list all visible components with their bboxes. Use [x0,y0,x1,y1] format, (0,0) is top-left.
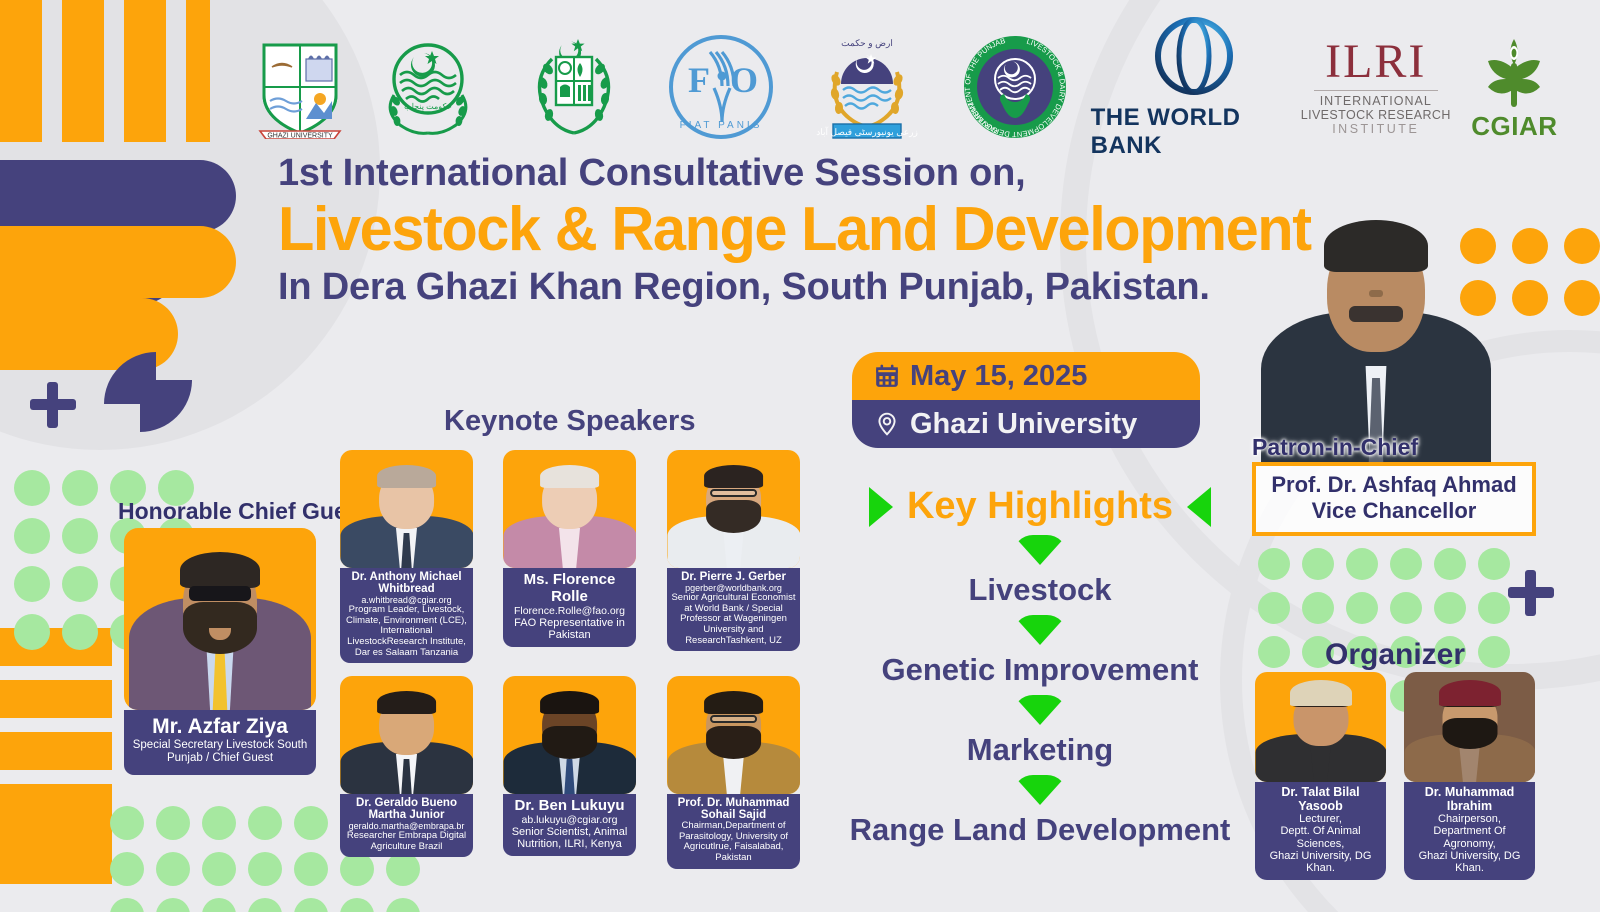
svg-text:زرعی یونیورسٹی فیصل آباد: زرعی یونیورسٹی فیصل آباد [816,126,918,138]
speaker-photo [503,676,636,794]
cgiar-logo: CGIAR [1454,33,1575,142]
organizer-caption: Dr. Muhammad IbrahimChairperson,Departme… [1404,782,1535,880]
speaker-affiliation: Senior Scientist, Animal Nutrition, ILRI… [506,826,633,851]
speaker-caption: Dr. Anthony Michael Whitbreada.whitbread… [340,568,473,663]
speaker-portrait-illustration [667,450,800,568]
location-pin-icon [874,411,900,437]
government-of-pakistan-logo [501,33,647,141]
decorative-dot [294,852,328,886]
decorative-plus-left [30,382,76,428]
decorative-dot [62,470,98,506]
decorative-dot [1564,228,1600,264]
decorative-dot [1258,548,1290,580]
decorative-dot [1434,548,1466,580]
decorative-dot [294,898,328,912]
decorative-dot [110,806,144,840]
decorative-dot [1512,228,1548,264]
svg-text:F: F [688,60,710,100]
decorative-dot [202,852,236,886]
decorative-dot [202,806,236,840]
chevron-down-icon [1013,775,1067,805]
decorative-plus-right [1508,570,1554,616]
patron-in-chief-heading: Patron-in-Chief [1252,434,1418,461]
speaker-portrait-illustration [340,450,473,568]
organizer-name: Dr. Muhammad Ibrahim [1407,785,1532,813]
speaker-photo [667,450,800,568]
decorative-dot [1302,592,1334,624]
speaker-photo [340,450,473,568]
decorative-dot [156,852,190,886]
decorative-dot [1478,636,1510,668]
key-highlight-item: Range Land Development [835,812,1245,848]
speaker-caption: Dr. Pierre J. Gerberpgerber@worldbank.or… [667,568,800,651]
speaker-portrait-illustration [503,450,636,568]
decorative-dot [62,614,98,650]
speaker-affiliation: Chairman,Department of Parasitology, Uni… [670,821,797,864]
keynote-speakers-heading: Keynote Speakers [444,405,695,438]
decorative-dot [1478,592,1510,624]
ilri-sub-2: LIVESTOCK RESEARCH [1301,108,1451,122]
decorative-vertical-bars [0,0,210,142]
speaker-card: Dr. Geraldo Bueno Martha Juniorgeraldo.m… [340,676,473,857]
decorative-dot [14,518,50,554]
speaker-portrait-illustration [503,676,636,794]
speaker-email[interactable]: ab.lukuyu@cgiar.org [506,814,633,826]
organizer-photo [1255,672,1386,782]
patron-portrait-illustration [1258,190,1494,462]
decorative-dot [1302,548,1334,580]
decorative-dot [156,898,190,912]
decorative-dot [110,852,144,886]
title-line-2: Livestock & Range Land Development [278,197,1228,262]
ghazi-university-logo: GHAZI UNIVERSITY [245,35,354,139]
decorative-dot [1258,636,1290,668]
organizer-heading: Organizer [1325,638,1465,672]
decorative-dot [1434,592,1466,624]
key-highlights-title: Key Highlights [907,485,1173,528]
decorative-quarter-circle-2 [140,380,192,432]
speaker-name: Dr. Pierre J. Gerber [670,571,797,583]
event-date-text: May 15, 2025 [910,360,1087,393]
speaker-caption: Dr. Ben Lukuyuab.lukuyu@cgiar.orgSenior … [503,794,636,856]
arrow-right-icon [869,487,893,527]
event-poster: GHAZI UNIVERSITY حکومت پنجاب [0,0,1600,912]
chief-guest-title: Special Secretary Livestock South Punjab… [128,739,312,765]
svg-text:حکومت پنجاب: حکومت پنجاب [404,102,452,111]
title-line-3: In Dera Ghazi Khan Region, South Punjab,… [278,266,1268,309]
decorative-dot [14,614,50,650]
decorative-dot [1390,592,1422,624]
glasses-icon [710,715,758,723]
event-date-badge: May 15, 2025 [852,352,1200,400]
ilri-wordmark: ILRI [1325,38,1426,86]
decorative-dot [14,470,50,506]
livestock-dairy-development-department-punjab-logo: LIVESTOCK & DAIRY DEVELOPMENT DEPARTMENT… [940,34,1090,140]
university-of-agriculture-faisalabad-logo: ارض و حکمت [794,32,940,142]
organizer-detail: Deptt. Of Animal Sciences, [1258,825,1383,850]
speaker-card: Dr. Pierre J. Gerberpgerber@worldbank.or… [667,450,800,651]
decorative-dot [248,852,282,886]
decorative-dot [1390,548,1422,580]
ilri-logo: ILRI INTERNATIONAL LIVESTOCK RESEARCH IN… [1298,38,1454,137]
organizer-detail: Ghazi University, DG Khan. [1407,850,1532,875]
organizer-detail: Lecturer, [1258,813,1383,825]
decorative-dot [1346,548,1378,580]
chevron-down-icon [1013,535,1067,565]
event-venue-text: Ghazi University [910,408,1137,441]
key-highlights-title-row: Key Highlights [835,485,1245,528]
speaker-affiliation: Senior Agricultural Economist at World B… [670,593,797,646]
organizer-detail: Department Of Agronomy, [1407,825,1532,850]
calendar-icon [874,363,900,389]
ilri-sub-1: INTERNATIONAL [1320,94,1432,108]
title-line-1: 1st International Consultative Session o… [278,152,1268,195]
speaker-caption: Prof. Dr. Muhammad Sohail SajidChairman,… [667,794,800,869]
arrow-left-icon [1187,487,1211,527]
chief-guest-photo [124,528,316,710]
decorative-dot [14,566,50,602]
svg-text:ارض و حکمت: ارض و حکمت [841,38,893,49]
organizer-name: Dr. Talat Bilal Yasoob [1258,785,1383,813]
key-highlight-item: Livestock [835,572,1245,608]
chief-guest-name: Mr. Azfar Ziya [128,715,312,739]
organizer-caption: Dr. Talat Bilal YasoobLecturer,Deptt. Of… [1255,782,1386,880]
organizer-card: Dr. Muhammad IbrahimChairperson,Departme… [1404,672,1535,880]
headwear-icon [1439,680,1501,706]
patron-in-chief-card: Prof. Dr. Ashfaq Ahmad Vice Chancellor [1252,462,1536,536]
speaker-affiliation: Researcher Embrapa Digital Agriculture B… [343,831,470,852]
speaker-card: Ms. Florence RolleFlorence.Rolle@fao.org… [503,450,636,647]
decorative-dot [62,518,98,554]
event-venue-badge: Ghazi University [852,400,1200,448]
speaker-photo [503,450,636,568]
chief-guest-heading: Honorable Chief Guest [118,498,367,525]
speaker-portrait-illustration [1404,672,1535,782]
decorative-dot [1346,592,1378,624]
decorative-dot [248,898,282,912]
speaker-photo [340,676,473,794]
speaker-caption: Dr. Geraldo Bueno Martha Juniorgeraldo.m… [340,794,473,857]
speaker-portrait-illustration [340,676,473,794]
organizer-detail: Chairperson, [1407,813,1532,825]
decorative-pill-shapes [0,160,236,370]
decorative-dot [294,806,328,840]
cgiar-label: CGIAR [1471,111,1557,142]
key-highlights-section: Key Highlights LivestockGenetic Improvem… [835,485,1245,848]
speaker-email[interactable]: Florence.Rolle@fao.org [506,605,633,617]
key-highlight-item: Marketing [835,732,1245,768]
decorative-dot [156,806,190,840]
speaker-name: Dr. Geraldo Bueno Martha Junior [343,797,470,821]
event-meta-badges: May 15, 2025 Ghazi University [852,352,1200,448]
speaker-affiliation: FAO Representative in Pakistan [506,617,633,642]
speaker-affiliation: Program Leader, Livestock, Climate, Envi… [343,605,470,658]
decorative-dot [202,898,236,912]
speaker-portrait-illustration [1255,672,1386,782]
decorative-dot [248,806,282,840]
organizer-photo [1404,672,1535,782]
patron-role: Vice Chancellor [1260,498,1528,524]
speaker-card: Dr. Ben Lukuyuab.lukuyu@cgiar.orgSenior … [503,676,636,856]
svg-text:GHAZI UNIVERSITY: GHAZI UNIVERSITY [267,133,333,140]
speaker-name: Dr. Anthony Michael Whitbread [343,571,470,595]
ilri-sub-3: INSTITUTE [1332,122,1419,136]
organizer-detail: Ghazi University, DG Khan. [1258,850,1383,875]
decorative-dot [1512,280,1548,316]
key-highlights-list: LivestockGenetic ImprovementMarketingRan… [835,535,1245,848]
speaker-name: Dr. Ben Lukuyu [506,797,633,814]
decorative-dot [1478,548,1510,580]
decorative-horizontal-bars [0,628,112,884]
fao-logo: F O FIAT PANIS [647,32,793,142]
chief-guest-card: Mr. Azfar Ziya Special Secretary Livesto… [124,528,316,775]
speaker-card: Dr. Anthony Michael Whitbreada.whitbread… [340,450,473,663]
patron-photo [1258,190,1494,462]
glasses-icon [710,489,758,497]
speaker-name: Prof. Dr. Muhammad Sohail Sajid [670,797,797,821]
world-bank-logo: THE WORLD BANK [1091,14,1298,160]
chevron-down-icon [1013,615,1067,645]
organizer-card: Dr. Talat Bilal YasoobLecturer,Deptt. Of… [1255,672,1386,880]
speaker-caption: Ms. Florence RolleFlorence.Rolle@fao.org… [503,568,636,647]
decorative-dot [62,566,98,602]
decorative-dot [110,898,144,912]
chief-guest-caption: Mr. Azfar Ziya Special Secretary Livesto… [124,710,316,775]
decorative-dot [386,898,420,912]
speaker-portrait-illustration [667,676,800,794]
decorative-dot [1258,592,1290,624]
headwear-icon [1290,680,1352,706]
speaker-photo [667,676,800,794]
speaker-card: Prof. Dr. Muhammad Sohail SajidChairman,… [667,676,800,869]
decorative-dot [1564,280,1600,316]
patron-name: Prof. Dr. Ashfaq Ahmad [1260,472,1528,498]
partner-logos-row: GHAZI UNIVERSITY حکومت پنجاب [245,22,1575,152]
event-title-block: 1st International Consultative Session o… [278,152,1268,309]
svg-text:FIAT PANIS: FIAT PANIS [679,120,762,131]
speaker-name: Ms. Florence Rolle [506,571,633,605]
government-of-punjab-logo: حکومت پنجاب [354,35,500,139]
decorative-dot [340,898,374,912]
chevron-down-icon [1013,695,1067,725]
key-highlight-item: Genetic Improvement [835,652,1245,688]
